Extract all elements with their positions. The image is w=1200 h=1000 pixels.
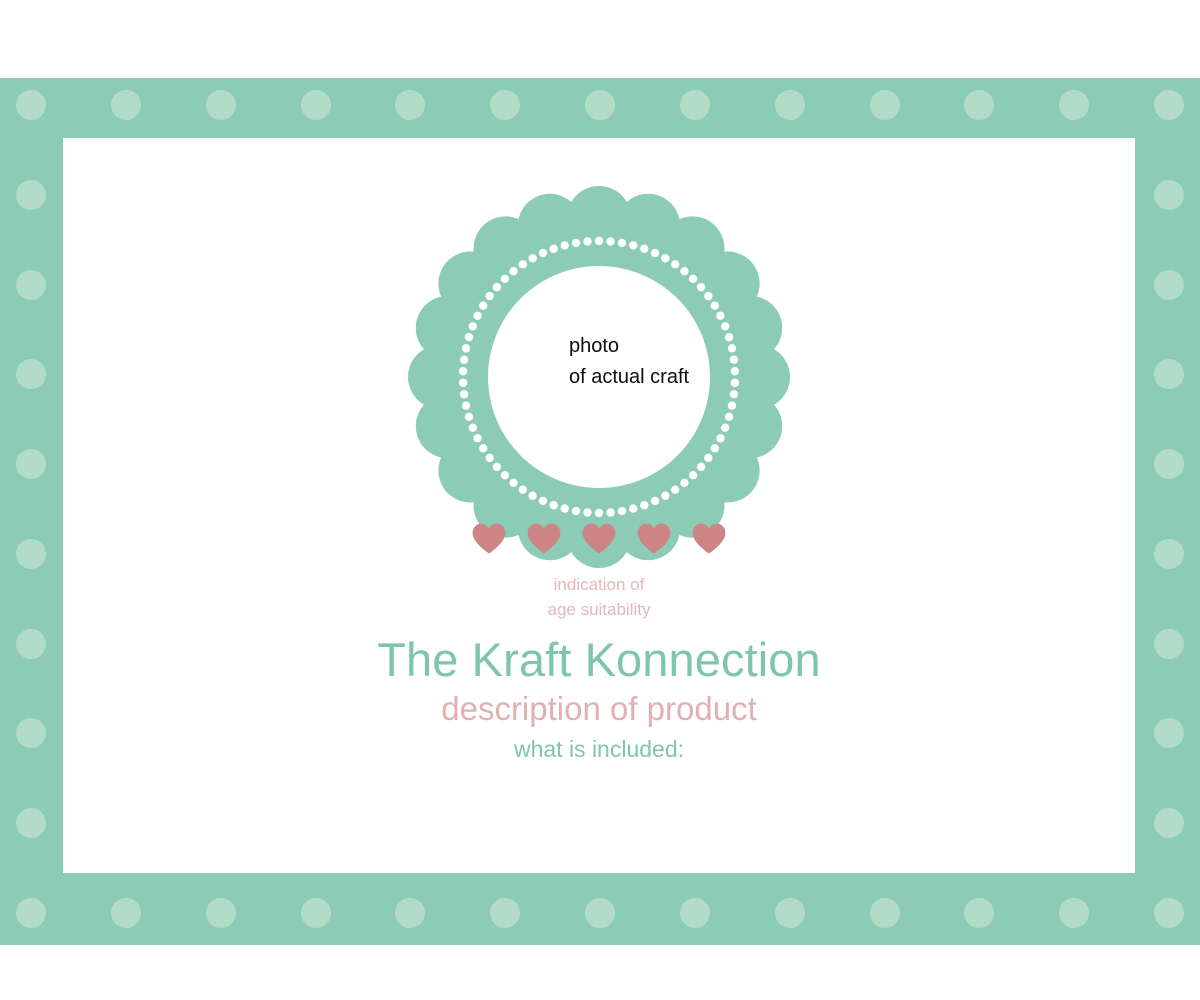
border-dot-bottom [870, 898, 900, 928]
border-dot-top [16, 90, 46, 120]
border-dot-right [1154, 718, 1184, 748]
border-dot-bottom [1154, 898, 1184, 928]
heart-icon[interactable] [692, 523, 726, 554]
border-dot-bottom [585, 898, 615, 928]
border-dot-left [16, 270, 46, 300]
photo-badge[interactable]: photo of actual craft [408, 186, 790, 568]
photo-placeholder-text: photo of actual craft [569, 331, 799, 393]
heart-icon[interactable] [527, 523, 561, 554]
border-dot-top [585, 90, 615, 120]
product-card: photo of actual craft indication of age … [0, 78, 1200, 945]
border-dot-top [490, 90, 520, 120]
border-dot-right [1154, 359, 1184, 389]
border-dot-left [16, 539, 46, 569]
border-dot-left [16, 449, 46, 479]
age-suitability-caption: indication of age suitability [63, 572, 1135, 622]
border-dot-bottom [395, 898, 425, 928]
included-label: what is included: [63, 733, 1135, 765]
border-dot-top [1154, 90, 1184, 120]
border-dot-top [964, 90, 994, 120]
heart-icon[interactable] [637, 523, 671, 554]
border-dot-right [1154, 539, 1184, 569]
border-dot-left [16, 808, 46, 838]
brand-title: The Kraft Konnection [63, 632, 1135, 688]
heart-icon[interactable] [582, 523, 616, 554]
border-dot-left [16, 718, 46, 748]
border-dot-right [1154, 629, 1184, 659]
border-dot-top [395, 90, 425, 120]
border-dot-left [16, 180, 46, 210]
border-dot-top [111, 90, 141, 120]
heart-icon[interactable] [472, 523, 506, 554]
border-dot-bottom [16, 898, 46, 928]
product-description: description of product [63, 688, 1135, 730]
border-dot-right [1154, 270, 1184, 300]
border-dot-bottom [490, 898, 520, 928]
border-dot-left [16, 359, 46, 389]
border-dot-right [1154, 808, 1184, 838]
age-rating-hearts[interactable] [63, 523, 1135, 554]
border-dot-bottom [1059, 898, 1089, 928]
border-dot-left [16, 629, 46, 659]
border-dot-right [1154, 449, 1184, 479]
border-dot-bottom [680, 898, 710, 928]
border-dot-top [870, 90, 900, 120]
card-inner-panel: photo of actual craft indication of age … [63, 138, 1135, 873]
border-dot-bottom [206, 898, 236, 928]
border-dot-bottom [301, 898, 331, 928]
border-dot-bottom [775, 898, 805, 928]
border-dot-bottom [111, 898, 141, 928]
border-dot-bottom [964, 898, 994, 928]
border-dot-top [680, 90, 710, 120]
border-dot-right [1154, 180, 1184, 210]
border-dot-top [206, 90, 236, 120]
border-dot-top [1059, 90, 1089, 120]
border-dot-top [301, 90, 331, 120]
border-dot-top [775, 90, 805, 120]
